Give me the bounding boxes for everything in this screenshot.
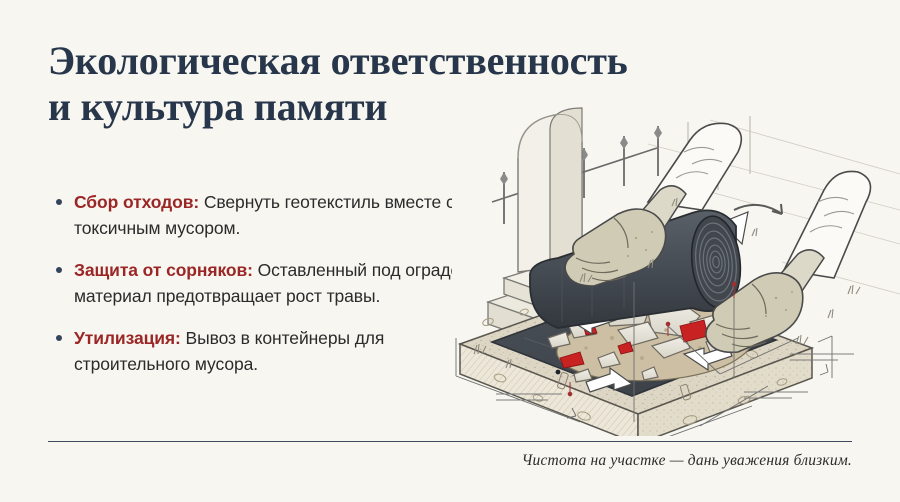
bullet-dot-icon [56, 267, 62, 273]
title-line-2: и культура памяти [48, 84, 518, 130]
page-title: Экологическая ответственность и культура… [48, 38, 518, 130]
footer-divider [48, 441, 852, 442]
bullet-dot-icon [56, 335, 62, 341]
footer-caption: Чистота на участке — дань уважения близк… [522, 452, 852, 470]
list-item: Утилизация: Вывоз в контейнеры для строи… [50, 326, 470, 377]
list-item: Сбор отходов: Свернуть геотекстиль вмест… [50, 190, 470, 241]
bullet-dot-icon [56, 199, 62, 205]
title-line-1: Экологическая ответственность [48, 38, 518, 84]
bullet-lead-label: Утилизация: [74, 328, 181, 348]
bullet-lead-label: Защита от сорняков: [74, 260, 253, 280]
bullet-lead-label: Сбор отходов: [74, 192, 199, 212]
bullet-list: Сбор отходов: Свернуть геотекстиль вмест… [50, 190, 470, 377]
slide-root: Экологическая ответственность и культура… [0, 0, 900, 502]
list-item: Защита от сорняков: Оставленный под огра… [50, 258, 470, 309]
illustration-rolling-geotextile [452, 86, 900, 436]
